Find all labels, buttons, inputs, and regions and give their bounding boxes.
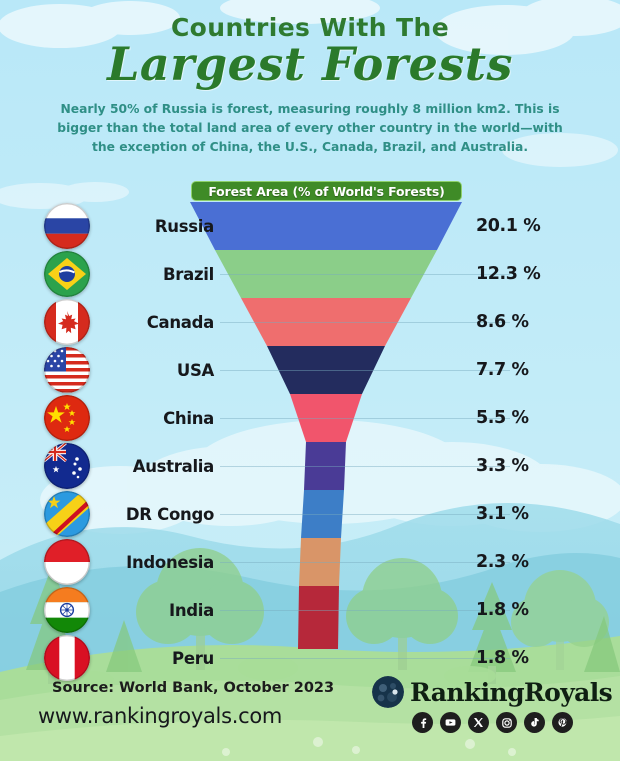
table-row[interactable]: USA 7.7 %	[0, 346, 620, 394]
leader-line	[220, 274, 510, 275]
tiktok-icon[interactable]	[524, 712, 545, 733]
flag-brazil-icon	[44, 251, 90, 297]
flag-australia-icon	[44, 443, 90, 489]
country-name: DR Congo	[96, 505, 214, 524]
country-value: 2.3 %	[476, 552, 586, 572]
table-row[interactable]: China 5.5 %	[0, 394, 620, 442]
table-row[interactable]: India 1.8 %	[0, 586, 620, 634]
flag-china-icon	[44, 395, 90, 441]
website-url[interactable]: www.rankingroyals.com	[38, 704, 282, 728]
country-rows: Russia 20.1 % Brazil 12.3 %	[0, 181, 620, 673]
pinterest-icon[interactable]	[552, 712, 573, 733]
legend-badge: Forest Area (% of World's Forests)	[191, 181, 462, 201]
flag-usa-icon	[44, 347, 90, 393]
flag-canada-icon	[44, 299, 90, 345]
country-name: USA	[96, 361, 214, 380]
footer: Source: World Bank, October 2023 www.ran…	[0, 676, 620, 761]
facebook-icon[interactable]	[412, 712, 433, 733]
flag-indonesia-icon	[44, 539, 90, 585]
funnel-chart: Forest Area (% of World's Forests)	[0, 181, 620, 673]
youtube-icon[interactable]	[440, 712, 461, 733]
country-name: Australia	[96, 457, 214, 476]
country-name: India	[96, 601, 214, 620]
page-title-line2: Largest Forests	[0, 40, 620, 88]
country-name: Indonesia	[96, 553, 214, 572]
leader-line	[220, 370, 510, 371]
subtitle-text: Nearly 50% of Russia is forest, measurin…	[50, 100, 570, 157]
country-value: 1.8 %	[476, 648, 586, 668]
table-row[interactable]: Canada 8.6 %	[0, 298, 620, 346]
leader-line	[220, 466, 510, 467]
country-name: China	[96, 409, 214, 428]
title-block: Countries With The Largest Forests	[0, 0, 620, 88]
social-links	[412, 712, 573, 733]
source-text: Source: World Bank, October 2023	[52, 680, 334, 696]
country-value: 8.6 %	[476, 312, 586, 332]
country-name: Russia	[96, 217, 214, 236]
country-value: 20.1 %	[476, 216, 586, 236]
table-row[interactable]: Australia 3.3 %	[0, 442, 620, 490]
table-row[interactable]: Russia 20.1 %	[0, 202, 620, 250]
country-name: Brazil	[96, 265, 214, 284]
leader-line	[220, 658, 510, 659]
country-value: 1.8 %	[476, 600, 586, 620]
instagram-icon[interactable]	[496, 712, 517, 733]
country-name: Canada	[96, 313, 214, 332]
table-row[interactable]: Peru 1.8 %	[0, 634, 620, 682]
country-value: 12.3 %	[476, 264, 586, 284]
country-value: 7.7 %	[476, 360, 586, 380]
table-row[interactable]: Indonesia 2.3 %	[0, 538, 620, 586]
country-value: 3.3 %	[476, 456, 586, 476]
leader-line	[220, 610, 510, 611]
country-value: 5.5 %	[476, 408, 586, 428]
flag-drcongo-icon	[44, 491, 90, 537]
leader-line	[220, 322, 510, 323]
country-value: 3.1 %	[476, 504, 586, 524]
leader-line	[220, 418, 510, 419]
leader-line	[220, 562, 510, 563]
country-name: Peru	[96, 649, 214, 668]
table-row[interactable]: DR Congo 3.1 %	[0, 490, 620, 538]
flag-peru-icon	[44, 635, 90, 681]
flag-india-icon	[44, 587, 90, 633]
leader-line	[220, 514, 510, 515]
flag-russia-icon	[44, 203, 90, 249]
table-row[interactable]: Brazil 12.3 %	[0, 250, 620, 298]
x-twitter-icon[interactable]	[468, 712, 489, 733]
